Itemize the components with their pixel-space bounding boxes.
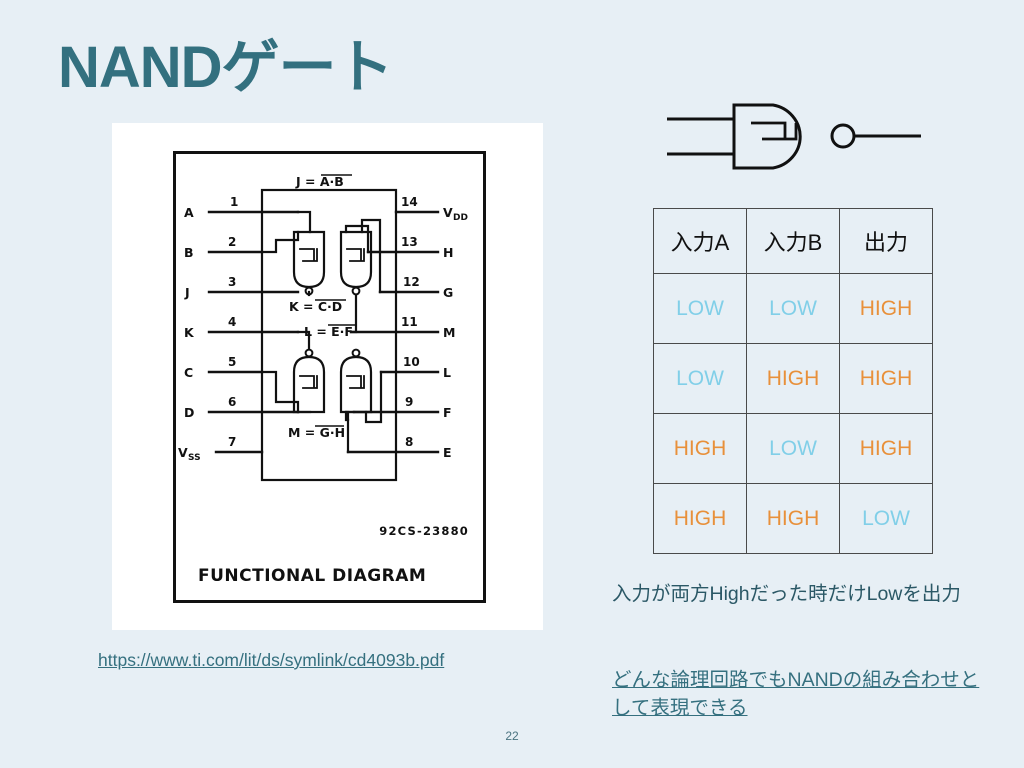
- svg-text:L = E·F: L = E·F: [304, 324, 353, 339]
- svg-text:12: 12: [403, 275, 420, 289]
- svg-text:SS: SS: [188, 453, 201, 463]
- hysteresis-glyph-lower: [762, 123, 796, 139]
- table-row: LOW HIGH HIGH: [654, 344, 933, 414]
- svg-text:13: 13: [401, 235, 418, 249]
- svg-text:C: C: [184, 365, 193, 380]
- svg-text:7: 7: [228, 435, 236, 449]
- gate-body: [734, 105, 800, 168]
- svg-text:8: 8: [405, 435, 413, 449]
- column-header-input-a: 入力A: [654, 209, 747, 274]
- functional-diagram-figure: A B J K C D V SS V DD H G M L F E 1 2: [173, 151, 486, 603]
- svg-text:14: 14: [401, 195, 418, 209]
- page-number: 22: [0, 729, 1024, 743]
- table-row: HIGH HIGH LOW: [654, 484, 933, 554]
- svg-text:1: 1: [230, 195, 238, 209]
- svg-text:3: 3: [228, 275, 236, 289]
- svg-text:11: 11: [401, 315, 418, 329]
- cell-input-b: HIGH: [747, 344, 840, 414]
- svg-text:V: V: [443, 205, 453, 220]
- svg-text:9: 9: [405, 395, 413, 409]
- svg-text:5: 5: [228, 355, 236, 369]
- svg-text:K: K: [184, 325, 195, 340]
- svg-text:6: 6: [228, 395, 236, 409]
- behavior-description: 入力が両方Highだった時だけLowを出力: [612, 577, 961, 606]
- cell-input-a: HIGH: [654, 484, 747, 554]
- cell-output: HIGH: [840, 274, 933, 344]
- svg-text:E: E: [443, 445, 452, 460]
- table-row: LOW LOW HIGH: [654, 274, 933, 344]
- cell-output: LOW: [840, 484, 933, 554]
- cell-input-b: LOW: [747, 414, 840, 484]
- svg-text:B: B: [184, 245, 194, 260]
- datasheet-image-panel: A B J K C D V SS V DD H G M L F E 1 2: [112, 123, 543, 630]
- svg-text:2: 2: [228, 235, 236, 249]
- nand-truth-table: 入力A 入力B 出力 LOW LOW HIGH LOW HIGH HIGH HI…: [653, 208, 933, 554]
- table-header-row: 入力A 入力B 出力: [654, 209, 933, 274]
- svg-text:J: J: [184, 285, 190, 300]
- svg-text:J = A·B: J = A·B: [295, 174, 344, 189]
- source-url-link[interactable]: https://www.ti.com/lit/ds/symlink/cd4093…: [98, 650, 444, 671]
- cell-input-b: HIGH: [747, 484, 840, 554]
- svg-text:G: G: [443, 285, 453, 300]
- svg-text:D: D: [184, 405, 194, 420]
- svg-text:M = G·H: M = G·H: [288, 425, 345, 440]
- nand-gate-symbol: [655, 95, 935, 195]
- functional-diagram-caption: FUNCTIONAL DIAGRAM: [198, 566, 426, 586]
- figure-code-label: 92CS-23880: [379, 524, 469, 538]
- cell-input-b: LOW: [747, 274, 840, 344]
- cell-input-a: LOW: [654, 344, 747, 414]
- column-header-output: 出力: [840, 209, 933, 274]
- conclusion-text: どんな論理回路でもNANDの組み合わせとして表現できる: [612, 667, 982, 722]
- svg-text:4: 4: [228, 315, 236, 329]
- cell-output: HIGH: [840, 344, 933, 414]
- svg-text:A: A: [184, 205, 194, 220]
- cell-input-a: LOW: [654, 274, 747, 344]
- svg-text:K = C·D: K = C·D: [289, 299, 342, 314]
- svg-text:F: F: [443, 405, 452, 420]
- svg-text:V: V: [178, 445, 188, 460]
- cell-input-a: HIGH: [654, 414, 747, 484]
- svg-text:H: H: [443, 245, 453, 260]
- cell-output: HIGH: [840, 414, 933, 484]
- svg-text:DD: DD: [453, 213, 468, 223]
- svg-text:M: M: [443, 325, 455, 340]
- column-header-input-b: 入力B: [747, 209, 840, 274]
- table-row: HIGH LOW HIGH: [654, 414, 933, 484]
- inversion-bubble: [832, 125, 854, 147]
- hysteresis-glyph-upper: [751, 123, 785, 139]
- svg-text:L: L: [443, 365, 451, 380]
- svg-text:10: 10: [403, 355, 420, 369]
- page-title: NANDゲート: [58, 38, 393, 99]
